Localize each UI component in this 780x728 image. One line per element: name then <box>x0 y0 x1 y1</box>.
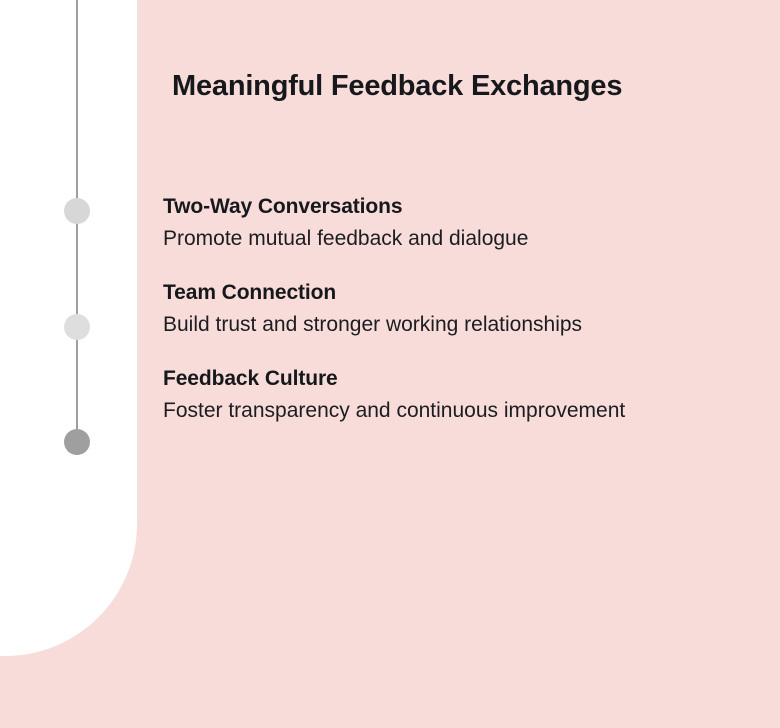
timeline-dot-2 <box>64 314 90 340</box>
list-item-description: Promote mutual feedback and dialogue <box>163 222 738 256</box>
list-item-description: Foster transparency and continuous impro… <box>163 394 738 428</box>
content-area: Meaningful Feedback Exchanges Two-Way Co… <box>163 0 763 728</box>
page-title: Meaningful Feedback Exchanges <box>172 70 622 103</box>
list-item: Two-Way Conversations Promote mutual fee… <box>163 192 763 256</box>
timeline-dot-1 <box>64 198 90 224</box>
timeline-dot-3 <box>64 429 90 455</box>
list-item-description: Build trust and stronger working relatio… <box>163 308 738 342</box>
list-item-title: Team Connection <box>163 278 763 308</box>
list-item: Feedback Culture Foster transparency and… <box>163 364 763 428</box>
feedback-items-list: Two-Way Conversations Promote mutual fee… <box>163 192 763 450</box>
list-item-title: Two-Way Conversations <box>163 192 763 222</box>
list-item: Team Connection Build trust and stronger… <box>163 278 763 342</box>
list-item-title: Feedback Culture <box>163 364 763 394</box>
slide-canvas: Meaningful Feedback Exchanges Two-Way Co… <box>0 0 780 728</box>
